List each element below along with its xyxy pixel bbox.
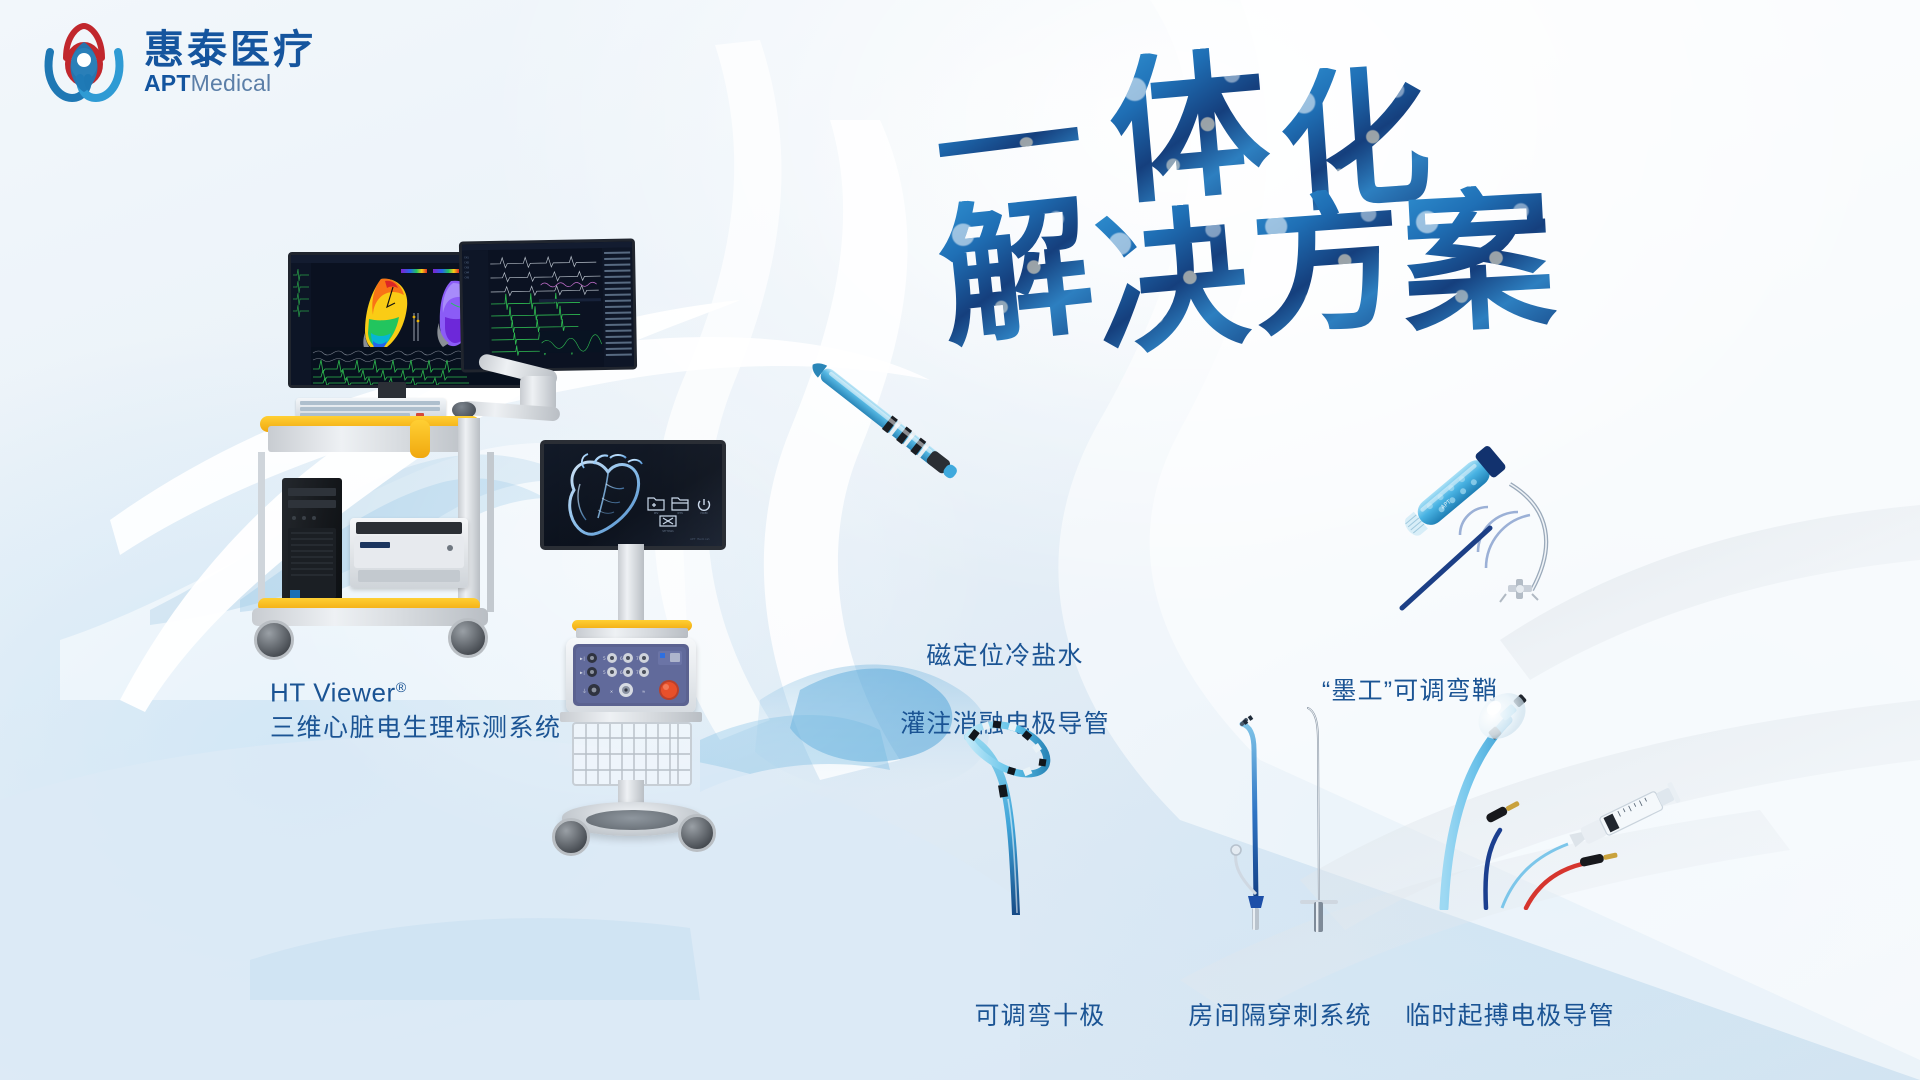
- ht-viewer-name-text: HT Viewer: [270, 678, 396, 708]
- brand-wordmark: 惠泰医疗 APTMedical: [144, 30, 316, 95]
- headline-char-4: 解: [932, 188, 1099, 355]
- product-decapolar-catheter: [940, 715, 1130, 915]
- product-steerable-sheath: APT: [1390, 440, 1690, 620]
- apt-medical-logo-mark: [38, 18, 130, 106]
- touch-monitor-stalk: [618, 544, 644, 620]
- svg-text:6: 6: [620, 656, 623, 662]
- basket-grid: [574, 724, 690, 784]
- decapolar-catheter-art: [940, 715, 1130, 915]
- locator-cart-basket: [572, 722, 692, 786]
- irrigated-ablation-catheter-art: [790, 355, 990, 495]
- svg-text:⏚: ⏚: [582, 688, 587, 695]
- steerable-sheath-art: APT: [1390, 440, 1690, 620]
- svg-text:5: 5: [603, 670, 606, 676]
- label-line-1: 磁定位冷盐水: [840, 639, 1170, 673]
- cart-worktop: [268, 426, 478, 452]
- headline-char-6: 方: [1247, 185, 1407, 345]
- transseptal-system-art: [1180, 680, 1380, 940]
- svg-text:✕: ✕: [610, 689, 613, 695]
- svg-text:▶|: ▶|: [580, 656, 585, 662]
- cart-caster-left: [254, 620, 294, 660]
- svg-text:≈: ≈: [642, 689, 645, 695]
- svg-text:7: 7: [636, 670, 639, 676]
- locator-cart-shelf: [560, 712, 702, 722]
- product-label-temporary-pacing-catheter: 临时起搏电极导管: [1300, 965, 1720, 1067]
- locator-caster-left: [552, 818, 590, 856]
- product-transseptal-puncture-system: [1180, 680, 1380, 940]
- brand-logo[interactable]: 惠泰医疗 APTMedical: [38, 18, 316, 106]
- tower-detail: [282, 478, 342, 608]
- brand-chinese-name: 惠泰医疗: [144, 30, 316, 70]
- cart-printer: [350, 518, 468, 588]
- logo-icon: [38, 18, 130, 106]
- svg-text:CH2: CH2: [464, 260, 469, 264]
- touch-monitor-screen[interactable]: NEWOPENPOWERSETTINGS APT Medical: [540, 440, 726, 550]
- svg-text:5: 5: [603, 656, 606, 662]
- ht-viewer-product-name: HT Viewer®: [270, 670, 562, 710]
- printer-detail: [350, 518, 468, 588]
- poster-canvas: 惠泰医疗 APTMedical 一 体 化 解 决 方 案: [0, 0, 1920, 1080]
- brand-english-light: Medical: [191, 70, 272, 96]
- generator-front-panel: ▶|▶| 55 66 77 ⏚✕≈: [566, 638, 696, 714]
- label-line-1: 临时起搏电极导管: [1300, 999, 1720, 1033]
- trademark-symbol: ®: [396, 679, 407, 695]
- svg-text:CH1: CH1: [464, 255, 469, 259]
- locator-caster-right: [678, 814, 716, 852]
- touch-monitor-content: NEWOPENPOWERSETTINGS APT Medical: [544, 444, 722, 546]
- product-temporary-pacing-catheter: [1430, 680, 1720, 910]
- svg-text:CH5: CH5: [464, 275, 469, 279]
- brand-english-name: APTMedical: [144, 72, 316, 95]
- locator-cart-base-inner: [586, 810, 678, 830]
- computer-tower: [282, 478, 342, 608]
- ecg-monitor-content: CH1CH2CH3 CH4CH5: [462, 242, 634, 370]
- temporary-pacing-catheter-art: [1430, 680, 1720, 910]
- ht-viewer-description: 三维心脏电生理标测系统: [270, 710, 562, 746]
- brand-english-bold: APT: [144, 70, 191, 96]
- ecg-monitor-screen: CH1CH2CH3 CH4CH5: [459, 238, 637, 372]
- product-irrigated-ablation-catheter: [790, 355, 990, 495]
- headline-char-5: 决: [1090, 200, 1255, 365]
- headline-char-7: 案: [1398, 182, 1558, 342]
- headline-calligraphy: 一 体 化 解 决 方 案: [960, 40, 1600, 340]
- magnetic-locator-cart: NEWOPENPOWERSETTINGS APT Medical: [540, 440, 770, 870]
- svg-text:CH3: CH3: [464, 265, 469, 269]
- svg-text:▶|: ▶|: [580, 670, 585, 676]
- svg-text:7: 7: [636, 656, 639, 662]
- locator-cart-tray: [576, 628, 688, 638]
- svg-text:CH4: CH4: [464, 270, 469, 274]
- svg-text:6: 6: [620, 670, 623, 676]
- magnetic-field-generator-box: ▶|▶| 55 66 77 ⏚✕≈: [566, 638, 696, 714]
- ht-viewer-system-label: HT Viewer® 三维心脏电生理标测系统: [270, 670, 562, 746]
- cart-caster-right: [448, 618, 488, 658]
